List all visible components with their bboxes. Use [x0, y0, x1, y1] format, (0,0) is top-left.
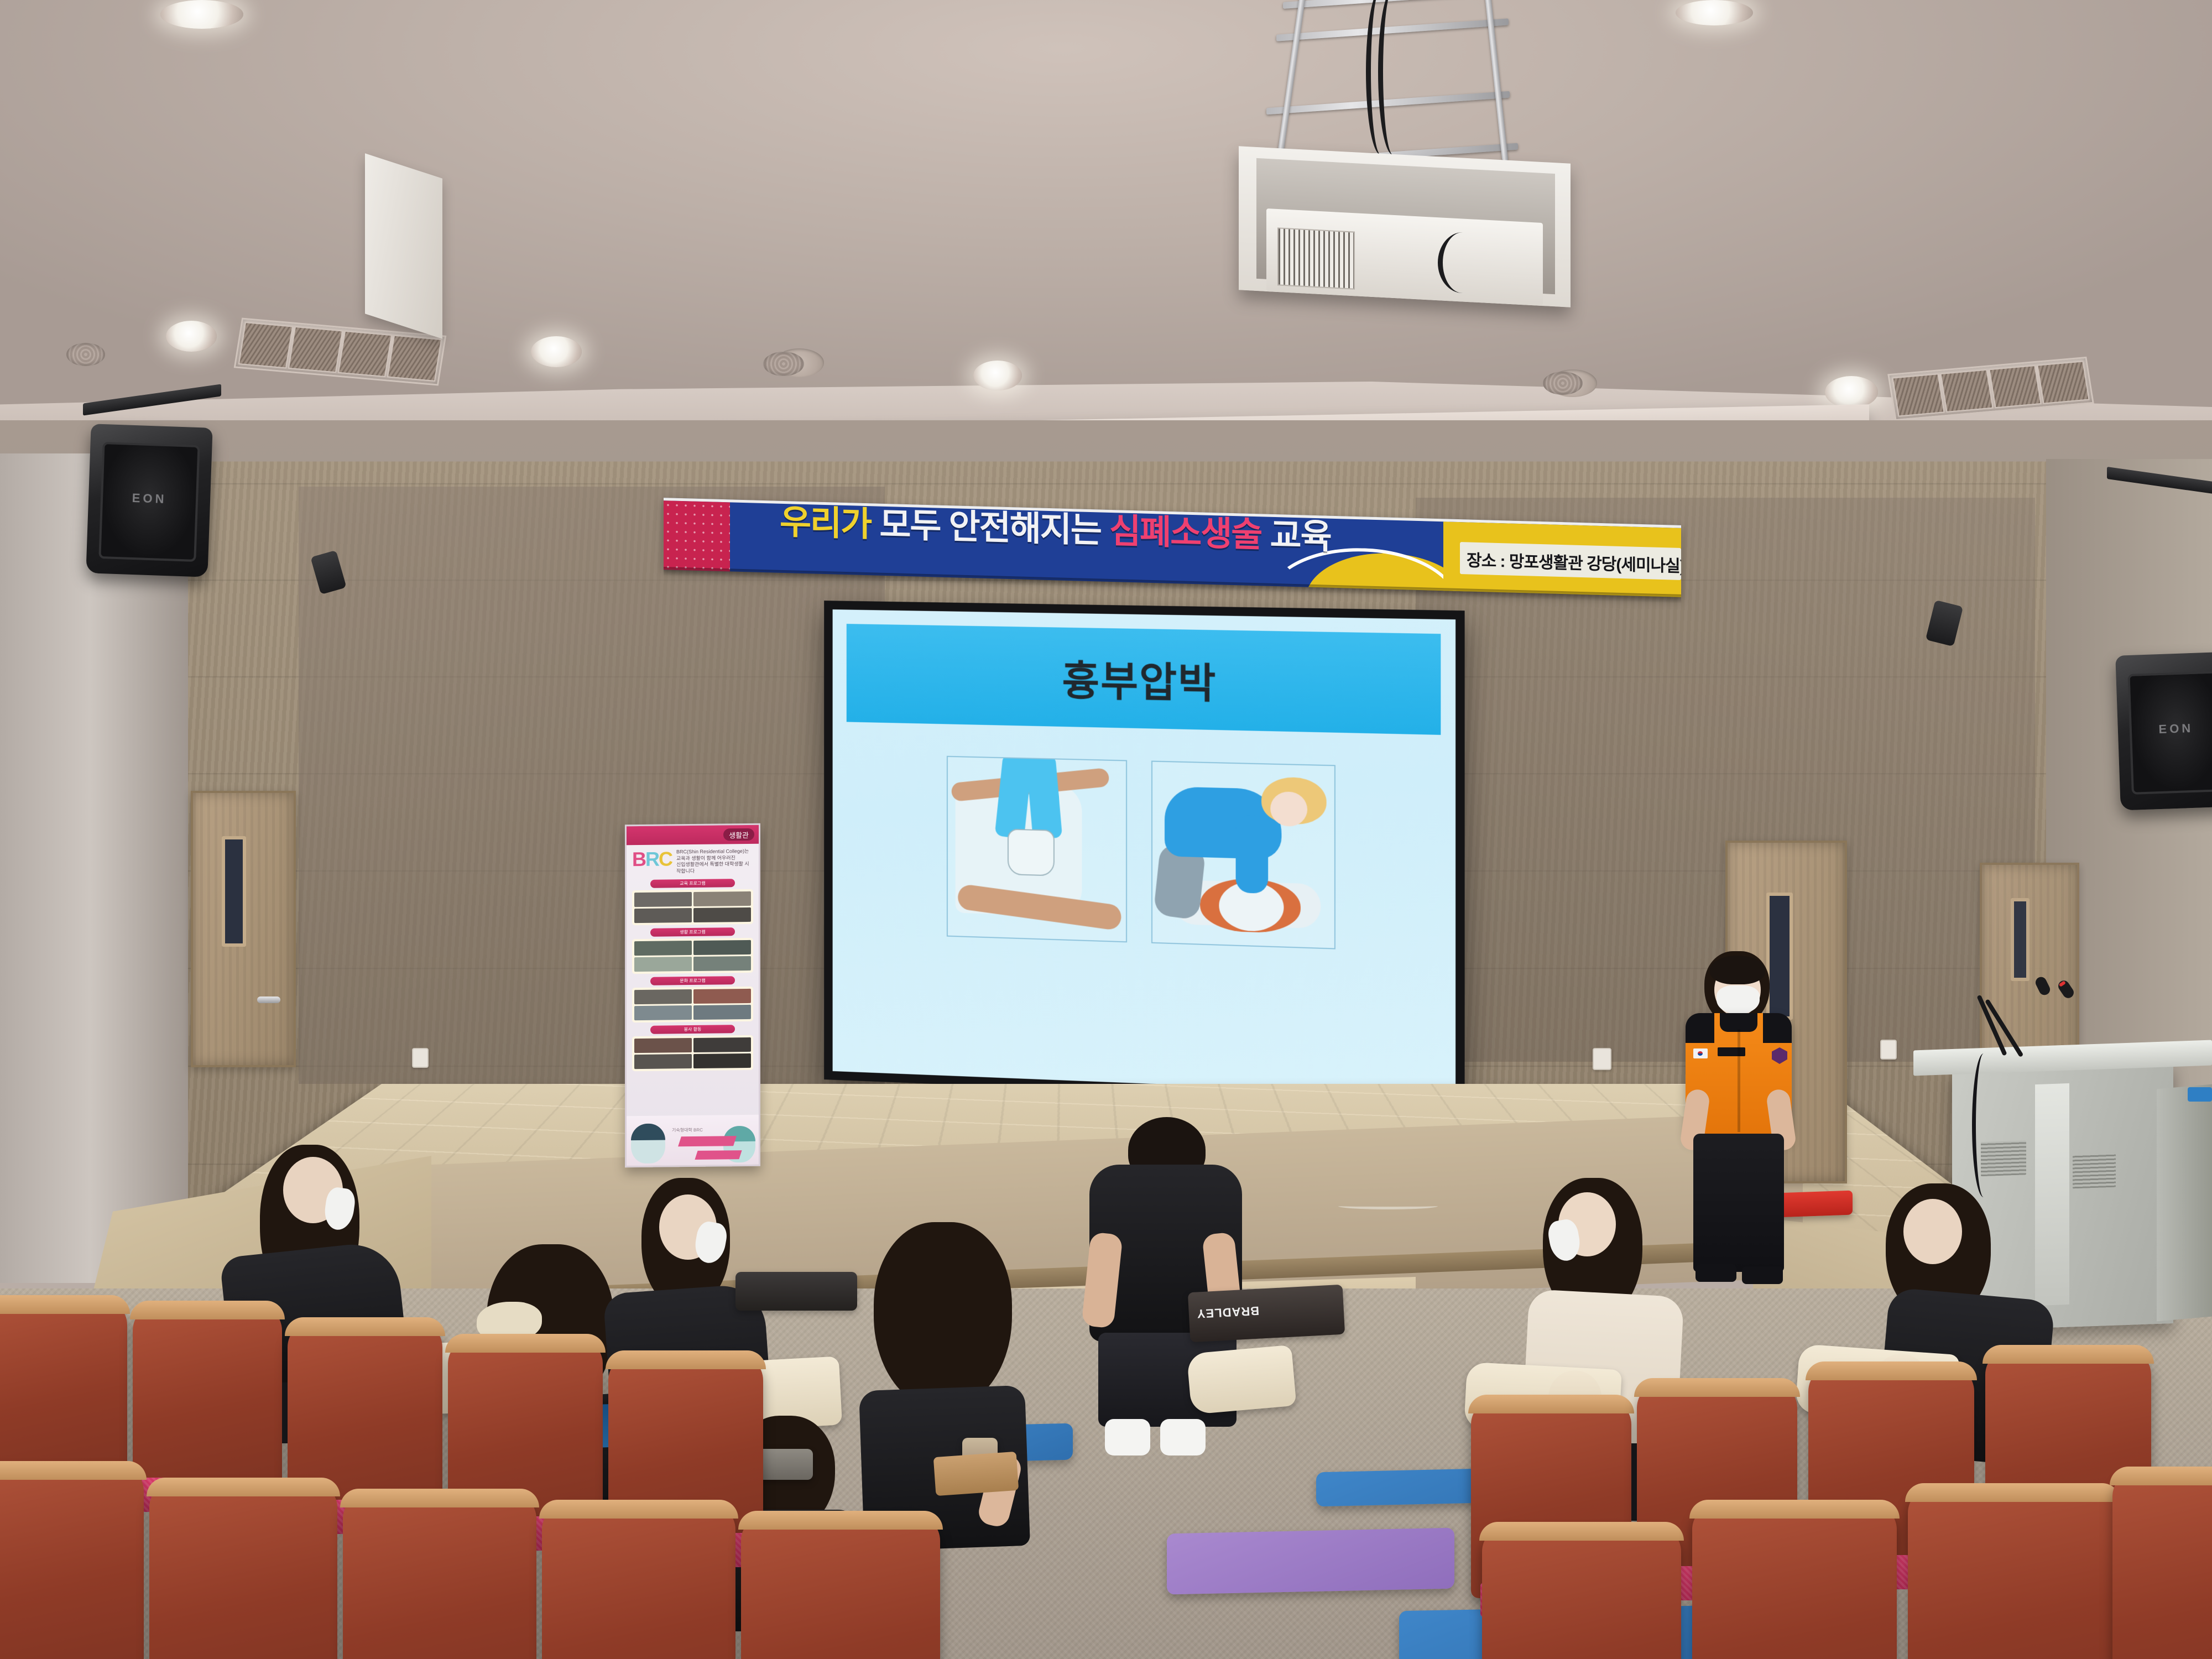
downlight-3: [973, 361, 1022, 390]
rollup-footer: 기숙형대학 BRC: [627, 1115, 759, 1166]
rollup-photo-grid: [632, 938, 753, 974]
brc-logo-r: R: [645, 848, 659, 870]
seat-row-front-4[interactable]: [542, 1504, 735, 1659]
seat-row-front-5[interactable]: [741, 1515, 940, 1659]
rollup-photo: [634, 892, 692, 907]
podium-cable: [1972, 1053, 1995, 1197]
seat-row-back-1[interactable]: [0, 1300, 127, 1482]
projection-screen: 흉부압박: [824, 601, 1464, 1105]
seat-top-trim: [2110, 1467, 2212, 1485]
seat-backrest: [149, 1482, 337, 1659]
seat-row-ledge: [933, 1452, 1019, 1496]
brc-headline: BRC(Shin Residential College)는 교육과 생활이 함…: [676, 848, 753, 875]
rollup-section: 봉사 활동: [632, 1025, 753, 1071]
rollup-photo: [634, 1038, 692, 1053]
seat-top-trim: [130, 1301, 285, 1319]
seat-backrest: [0, 1465, 144, 1659]
projected-slide: 흉부압박: [833, 609, 1456, 1096]
seat-backrest: [343, 1493, 536, 1659]
seat-top-trim: [1689, 1500, 1900, 1519]
seat-top-trim: [1983, 1345, 2154, 1364]
hand-placement-illustration: [947, 756, 1127, 942]
rollup-photo: [634, 941, 692, 956]
downlight-1: [166, 321, 217, 352]
seat-backrest: [0, 1300, 127, 1482]
banner-accent-red: [664, 500, 730, 574]
brc-logo-c: C: [659, 847, 672, 870]
wall-column-left: [0, 453, 188, 1283]
gear-bag-1[interactable]: [735, 1272, 857, 1311]
ceiling-projector: [1206, 0, 1626, 348]
rollup-footer-shape: [695, 1150, 742, 1160]
seat-top-trim: [738, 1511, 943, 1530]
door-window-far-right: [2011, 898, 2030, 981]
illustration-rescuer-face: [1270, 791, 1307, 827]
instructor-name-tag: [1718, 1047, 1745, 1056]
instructor-boot-right: [1742, 1266, 1783, 1284]
banner-title-seg3: 심폐소생술: [1109, 512, 1270, 555]
downlight-5: [160, 0, 243, 29]
ceiling-speaker-2: [763, 352, 804, 376]
rollup-photo: [634, 1054, 692, 1069]
seat-row-back-2[interactable]: [133, 1305, 282, 1493]
door-window-left: [222, 836, 246, 947]
seat-row-front-7[interactable]: [1692, 1504, 1897, 1659]
participant-5-shoe-left: [1105, 1419, 1150, 1455]
rollup-section-label: 생활 프로그램: [650, 927, 735, 937]
seat-top-trim: [147, 1478, 340, 1496]
seat-top-trim: [285, 1317, 445, 1336]
door-left[interactable]: [191, 791, 296, 1067]
instructor-shoulder-right: [1763, 1013, 1792, 1043]
rollup-section: 생활 프로그램: [632, 927, 753, 974]
instructor-fringe: [1710, 956, 1765, 984]
rollup-badge: 생활관: [723, 828, 754, 841]
rollup-photo: [693, 940, 751, 955]
rollup-photo: [693, 891, 751, 906]
auditorium-scene: 장소 : 망포생활관 강당(세미나실) 우리가 모두 안전해지는 심폐소생술 교…: [0, 0, 2212, 1659]
rollup-section-label: 교육 프로그램: [650, 879, 735, 888]
rollup-footer-shape: [678, 1136, 737, 1146]
projector-cable: [1378, 0, 1408, 155]
seat-backrest: [1482, 1526, 1681, 1659]
korea-flag-patch: [1693, 1048, 1708, 1058]
participant-5-shoe-right: [1160, 1419, 1206, 1455]
podium-blue-item[interactable]: [2188, 1087, 2212, 1102]
brc-headline-line1: BRC(Shin Residential College)는: [676, 848, 753, 855]
projector-vent-grille: [1277, 227, 1355, 289]
brc-logo: BRC: [632, 849, 672, 869]
mascot-left-hair: [631, 1124, 665, 1141]
rollup-photo: [634, 957, 692, 972]
illustration-hands: [1008, 829, 1055, 877]
wall-socket-left[interactable]: [412, 1048, 429, 1068]
seat-backrest: [542, 1504, 735, 1659]
banner-title-seg1: 우리가: [780, 503, 879, 544]
kneeling-compression-illustration: [1151, 761, 1335, 950]
podium-side-cabinet: [2157, 1084, 2212, 1322]
rollup-photo: [634, 908, 692, 923]
instructor-shoulder-left: [1686, 1013, 1714, 1043]
gear-bag-label: BRADLEY: [1196, 1303, 1260, 1321]
rollup-photo-grid: [632, 1035, 753, 1071]
seat-top-trim: [0, 1461, 147, 1480]
podium-vent-right: [2073, 1154, 2116, 1189]
cpr-manikin-3: [1187, 1345, 1297, 1415]
rollup-photo: [693, 1037, 751, 1052]
fire-service-emblem-patch: [1772, 1047, 1787, 1064]
brc-rollup-banner: 생활관 BRC BRC(Shin Residential College)는 교…: [625, 823, 760, 1168]
illustration-rescuer-arm: [1236, 815, 1269, 894]
seat-top-trim: [1468, 1395, 1634, 1413]
seat-top-trim: [606, 1350, 766, 1369]
seat-row-front-6[interactable]: [1482, 1526, 1681, 1659]
ceiling-speaker-1: [66, 343, 105, 366]
seat-row-front-8[interactable]: [1908, 1488, 2118, 1659]
seat-row-front-3[interactable]: [343, 1493, 536, 1659]
brc-logo-b: B: [632, 848, 645, 870]
projector-lift-arm: [1276, 0, 1307, 160]
instructor-collar: [1720, 1013, 1757, 1032]
seat-top-trim: [1634, 1378, 1800, 1397]
brc-headline-line3: 신입생활관에서 특별한 대학생활 시작합니다: [676, 861, 753, 875]
rollup-section: 문화 프로그램: [632, 976, 753, 1022]
seat-backrest: [133, 1305, 282, 1493]
banner-title-seg2: 모두 안전해지는: [879, 506, 1109, 550]
projector-power-cable: [1438, 232, 1488, 293]
seat-backrest: [741, 1515, 940, 1659]
rollup-section-label: 문화 프로그램: [650, 976, 735, 985]
gear-bag-bradley[interactable]: BRADLEY: [1188, 1285, 1345, 1343]
participant-7-head: [1903, 1199, 1962, 1264]
ceiling-speaker-3: [1543, 372, 1583, 395]
seat-backrest: [1908, 1488, 2118, 1659]
door-handle-left: [257, 997, 280, 1003]
downlight-4: [1825, 376, 1878, 408]
seat-top-trim: [340, 1489, 539, 1507]
rollup-photo: [693, 989, 751, 1004]
rollup-photo: [634, 1005, 692, 1020]
slide-title-bar: 흉부압박: [847, 624, 1441, 735]
rollup-photo: [634, 989, 692, 1004]
wall-speaker-left: EON: [86, 424, 212, 577]
instructor-uniform-pants: [1693, 1134, 1784, 1272]
downlight-2: [531, 336, 582, 367]
seat-top-trim: [0, 1295, 130, 1314]
participant-4-hair: [874, 1222, 1012, 1410]
downlight-6: [1676, 0, 1753, 25]
seat-row-front-9[interactable]: [2112, 1471, 2212, 1659]
seat-row-front-1[interactable]: [0, 1465, 144, 1659]
wall-socket-right[interactable]: [1593, 1048, 1611, 1070]
seat-backrest: [2112, 1471, 2212, 1659]
seat-top-trim: [1806, 1361, 1977, 1380]
rollup-photo: [693, 1005, 751, 1020]
seat-top-trim: [539, 1500, 738, 1519]
rollup-photo: [693, 907, 751, 922]
seat-top-trim: [1905, 1483, 2121, 1502]
rollup-photo: [693, 1053, 751, 1068]
rollup-photo: [693, 956, 751, 971]
projector-ceiling-panel: [365, 153, 442, 338]
wall-socket-right-2[interactable]: [1880, 1040, 1897, 1060]
rollup-photo-grid: [632, 889, 753, 925]
slide-title: 흉부압박: [1062, 648, 1217, 709]
stage-cable: [1338, 1203, 1438, 1209]
instructor-zipper: [1738, 1030, 1740, 1132]
rollup-header-bar: 생활관: [627, 825, 759, 846]
banner-title-seg4: 교육: [1270, 517, 1331, 556]
seat-backrest: [1692, 1504, 1897, 1659]
instructor-face-mask: [1717, 985, 1760, 1014]
rollup-section: 교육 프로그램: [632, 879, 753, 925]
seat-row-front-2[interactable]: [149, 1482, 337, 1659]
seat-top-trim: [1479, 1522, 1684, 1541]
exercise-mat-stage-3: [1167, 1528, 1454, 1595]
rollup-footer-note: 기숙형대학 BRC: [672, 1127, 703, 1134]
rollup-section-label: 봉사 활동: [650, 1025, 735, 1034]
instructor-boot-left: [1695, 1264, 1736, 1282]
seat-top-trim: [445, 1334, 606, 1353]
slide-body: [847, 754, 1441, 953]
wall-speaker-right: EON: [2115, 651, 2212, 810]
rollup-photo-grid: [632, 987, 753, 1022]
